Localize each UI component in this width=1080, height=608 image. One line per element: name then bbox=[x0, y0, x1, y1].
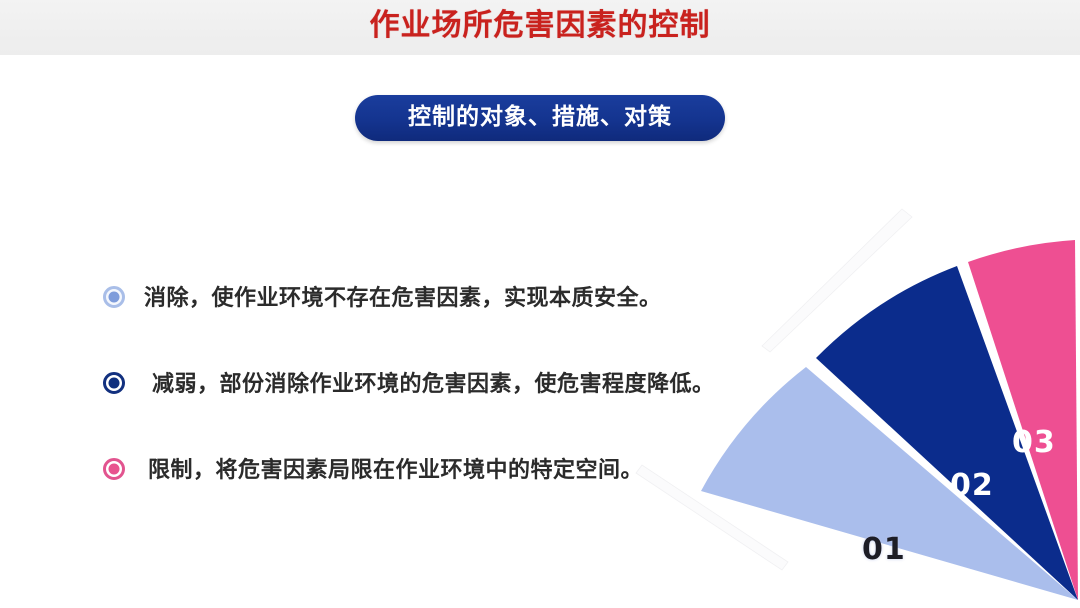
list-item: 限制，将危害因素局限在作业环境中的特定空间。 bbox=[100, 447, 780, 533]
bullet-list: 消除，使作业环境不存在危害因素，实现本质安全。 减弱，部份消除作业环境的危害因素… bbox=[100, 275, 780, 533]
radio-filled-icon bbox=[103, 372, 125, 394]
list-item-label: 消除，使作业环境不存在危害因素，实现本质安全。 bbox=[144, 280, 662, 312]
radio-filled-icon bbox=[103, 286, 125, 308]
subtitle-banner: 控制的对象、措施、对策 bbox=[355, 95, 725, 141]
list-item: 消除，使作业环境不存在危害因素，实现本质安全。 bbox=[100, 275, 780, 361]
slide-canvas: 作业场所危害因素的控制 控制的对象、措施、对策 消除，使作业环境不存在危害因素，… bbox=[0, 0, 1080, 608]
subtitle-banner-label: 控制的对象、措施、对策 bbox=[355, 95, 725, 141]
fan-segment-03 bbox=[968, 240, 1078, 600]
list-item-label: 减弱，部份消除作业环境的危害因素，使危害程度降低。 bbox=[152, 366, 715, 398]
pointer-line-upper bbox=[762, 209, 912, 352]
fan-label-03: 03 bbox=[1012, 425, 1056, 460]
fan-label-02: 02 bbox=[950, 468, 994, 503]
radio-filled-icon bbox=[103, 458, 125, 480]
list-item-label: 限制，将危害因素局限在作业环境中的特定空间。 bbox=[148, 452, 643, 484]
fan-label-01: 01 bbox=[862, 532, 906, 567]
page-title: 作业场所危害因素的控制 bbox=[0, 0, 1080, 55]
list-item: 减弱，部份消除作业环境的危害因素，使危害程度降低。 bbox=[100, 361, 780, 447]
